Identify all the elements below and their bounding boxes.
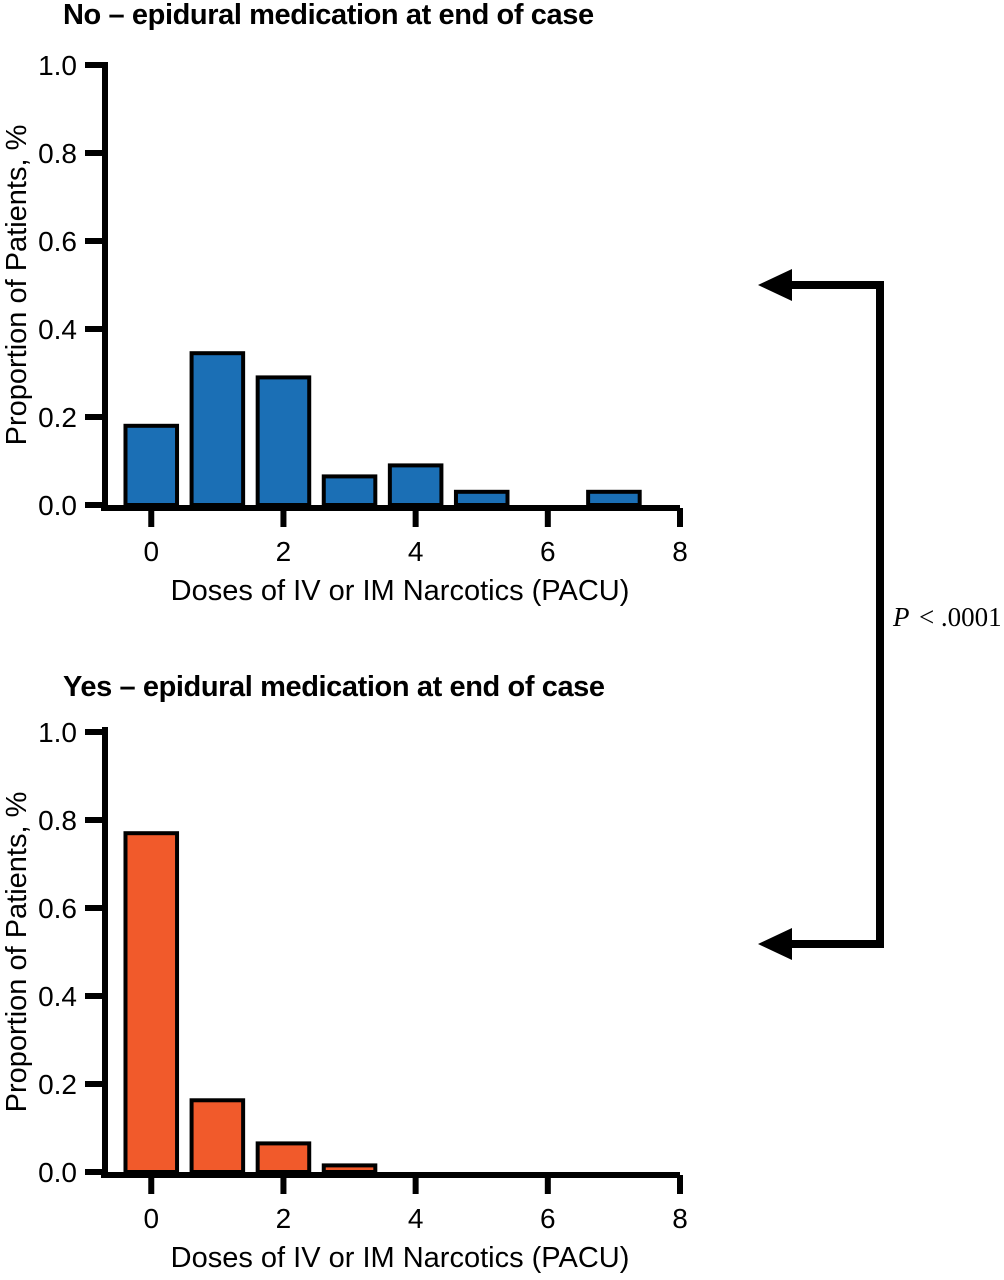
arrowhead-up-icon — [758, 269, 792, 301]
x-tick-label-no-1: 2 — [276, 536, 292, 567]
y-tick-label-no-2: 0.4 — [38, 314, 77, 345]
y-axis-yes: 0.00.20.40.60.81.0 — [38, 717, 105, 1188]
x-tick-label-no-2: 4 — [408, 536, 424, 567]
panel-yes-epidural: Yes – epidural medication at end of case… — [1, 671, 688, 1274]
x-axis-title-yes: Doses of IV or IM Narcotics (PACU) — [171, 1242, 630, 1274]
pvalue-label: P < .0001 — [892, 602, 1002, 632]
y-tick-label-yes-0: 0.0 — [38, 1157, 77, 1188]
figure-container: No – epidural medication at end of case … — [0, 0, 1004, 1280]
x-axis-title-no: Doses of IV or IM Narcotics (PACU) — [171, 575, 630, 607]
x-axis-yes: 02468 — [101, 1175, 688, 1234]
arrowhead-down-icon — [758, 928, 792, 960]
panel-title-yes: Yes – epidural medication at end of case — [63, 671, 605, 703]
y-ticklabels-yes: 0.00.20.40.60.81.0 — [38, 717, 77, 1188]
y-tick-label-yes-2: 0.4 — [38, 981, 77, 1012]
x-tick-label-no-4: 8 — [672, 536, 688, 567]
x-axis-no: 02468 — [101, 508, 688, 567]
bars-no — [125, 353, 639, 505]
bar-no-5 — [456, 492, 508, 505]
y-tick-label-yes-4: 0.8 — [38, 805, 77, 836]
bar-yes-0 — [125, 833, 177, 1172]
y-tick-label-no-5: 1.0 — [38, 50, 77, 81]
y-tick-label-yes-3: 0.6 — [38, 893, 77, 924]
pvalue-bracket-annotation: P < .0001 — [758, 269, 1002, 960]
y-tick-label-no-3: 0.6 — [38, 226, 77, 257]
bracket-path — [786, 285, 880, 944]
y-tick-label-yes-1: 0.2 — [38, 1069, 77, 1100]
x-tick-label-no-3: 6 — [540, 536, 556, 567]
x-tick-label-yes-2: 4 — [408, 1203, 424, 1234]
bar-yes-3 — [324, 1165, 376, 1172]
panel-title-no: No – epidural medication at end of case — [63, 0, 594, 31]
x-ticklabels-yes: 02468 — [143, 1203, 687, 1234]
panel-no-epidural: No – epidural medication at end of case … — [1, 0, 688, 607]
figure-svg: No – epidural medication at end of case … — [0, 0, 1004, 1280]
bar-no-1 — [192, 353, 244, 505]
y-axis-no: 0.00.20.40.60.81.0 — [38, 50, 105, 521]
bar-no-7 — [588, 492, 640, 505]
pvalue-rest: < .0001 — [919, 602, 1002, 632]
bar-yes-1 — [192, 1100, 244, 1172]
bar-no-4 — [390, 465, 442, 505]
y-axis-title-no: Proportion of Patients, % — [1, 125, 33, 446]
x-tick-label-no-0: 0 — [143, 536, 159, 567]
y-tick-label-no-1: 0.2 — [38, 402, 77, 433]
y-tick-label-yes-5: 1.0 — [38, 717, 77, 748]
bars-yes — [125, 833, 375, 1172]
x-tick-label-yes-3: 6 — [540, 1203, 556, 1234]
bar-no-0 — [125, 426, 177, 505]
x-tick-label-yes-1: 2 — [276, 1203, 292, 1234]
x-ticklabels-no: 02468 — [143, 536, 687, 567]
bar-no-2 — [258, 377, 310, 505]
bar-yes-2 — [258, 1143, 310, 1172]
x-tick-label-yes-0: 0 — [143, 1203, 159, 1234]
y-axis-title-yes: Proportion of Patients, % — [1, 792, 33, 1113]
y-tick-label-no-4: 0.8 — [38, 138, 77, 169]
y-tick-label-no-0: 0.0 — [38, 490, 77, 521]
pvalue-symbol: P — [892, 602, 910, 632]
y-ticklabels-no: 0.00.20.40.60.81.0 — [38, 50, 77, 521]
bar-no-3 — [324, 476, 376, 505]
x-tick-label-yes-4: 8 — [672, 1203, 688, 1234]
